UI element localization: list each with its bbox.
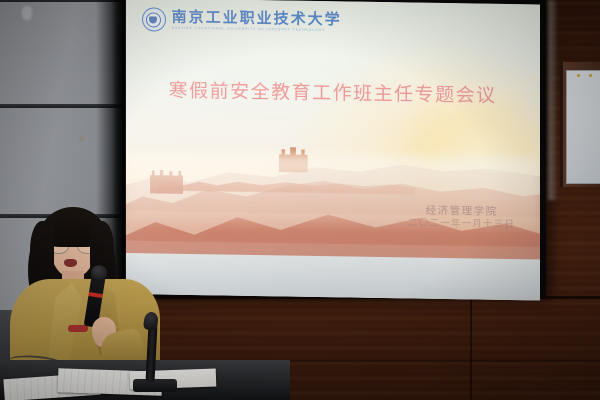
wall-blemish-1: [22, 6, 32, 20]
slide-footer: 经济管理学院 二〇二一年一月十三日: [408, 203, 515, 232]
projection-screen: 南京工业职业技术大学 NANJING VOCATIONAL UNIVERSITY…: [125, 0, 540, 301]
whiteboard-clip-left: [577, 74, 580, 77]
whiteboard-clip-right: [589, 74, 592, 77]
slide-logo-header: 南京工业职业技术大学 NANJING VOCATIONAL UNIVERSITY…: [142, 2, 342, 41]
university-name-en: NANJING VOCATIONAL UNIVERSITY OF INDUSTR…: [172, 27, 342, 33]
slide-title: 寒假前安全教育工作班主任专题会议: [169, 76, 497, 108]
microphone-red-band: [88, 292, 102, 298]
wall-edge-highlight: [548, 0, 558, 200]
red-accent: [68, 325, 88, 332]
gooseneck-mic-base: [133, 379, 177, 392]
whiteboard-surface: [566, 70, 600, 184]
presenter-desk: [0, 360, 290, 400]
conference-room-photo: 南京工业职业技术大学 NANJING VOCATIONAL UNIVERSITY…: [0, 0, 600, 400]
slide-date: 二〇二一年一月十三日: [408, 218, 515, 232]
wood-seam-vertical: [470, 296, 472, 400]
slide-bottom-band: [125, 253, 540, 301]
university-name-block: 南京工业职业技术大学 NANJING VOCATIONAL UNIVERSITY…: [172, 10, 342, 33]
university-name-cn: 南京工业职业技术大学: [172, 10, 342, 28]
wall-blemish-2: [80, 136, 84, 141]
university-crest-icon: [142, 8, 166, 32]
mouth: [64, 259, 77, 267]
